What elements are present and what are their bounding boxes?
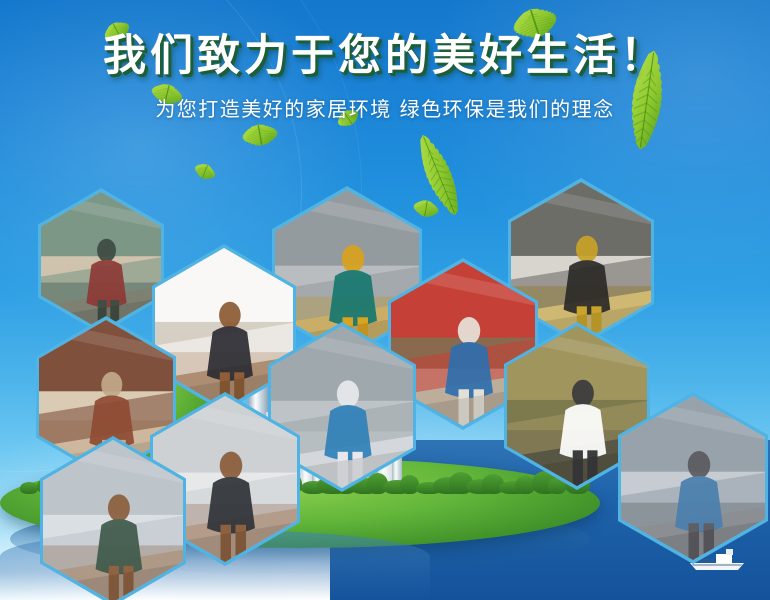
leaf-center-small-icon — [405, 197, 447, 221]
banner-subtitle: 为您打造美好的家居环境 绿色环保是我们的理念 — [0, 79, 770, 122]
hex-photo — [41, 192, 161, 330]
leaf-center-falling-icon — [405, 126, 474, 224]
banner-title: 我们致力于您的美好生活！ — [0, 0, 770, 79]
hex-demolition-worker[interactable] — [38, 188, 164, 334]
island-shrub — [400, 475, 419, 494]
headline-block: 我们致力于您的美好生活！ 为您打造美好的家居环境 绿色环保是我们的理念 — [0, 0, 770, 122]
island-shrub — [20, 482, 38, 494]
leaf-mid-center-icon — [231, 119, 290, 150]
leaf-mid-small-icon — [186, 158, 223, 185]
promo-banner: 我们致力于您的美好生活！ 为您打造美好的家居环境 绿色环保是我们的理念 — [0, 0, 770, 600]
